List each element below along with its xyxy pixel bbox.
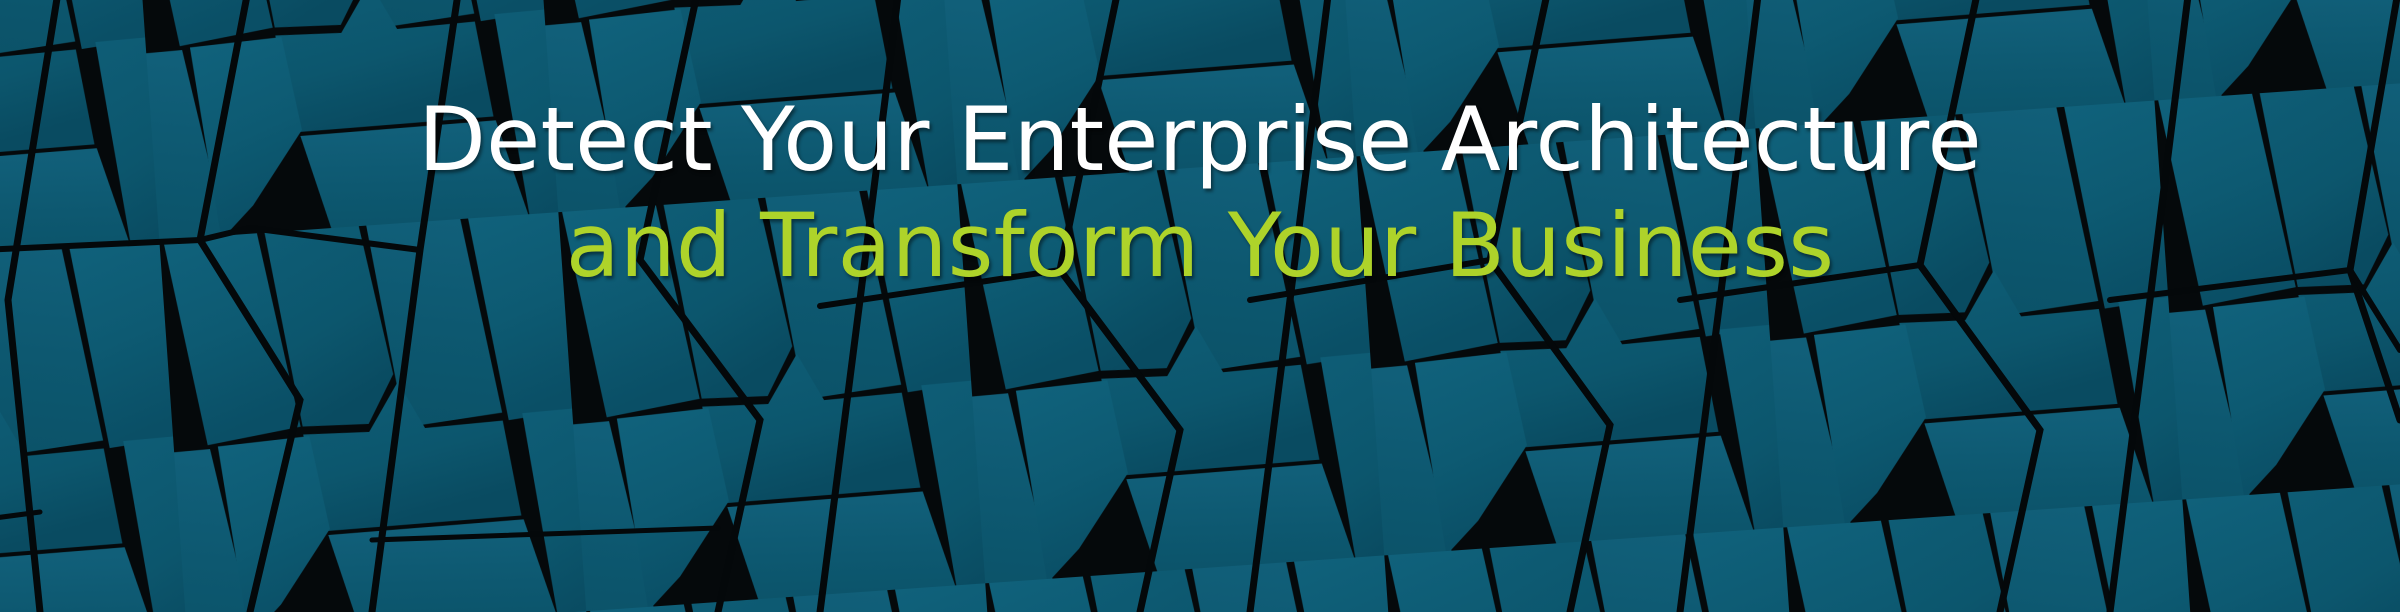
hero-banner: Detect Your Enterprise Architecture and … (0, 0, 2400, 612)
headline-line-secondary: and Transform Your Business (40, 202, 2360, 290)
headline-line-primary: Detect Your Enterprise Architecture (40, 96, 2360, 184)
hero-headline: Detect Your Enterprise Architecture and … (0, 96, 2400, 290)
